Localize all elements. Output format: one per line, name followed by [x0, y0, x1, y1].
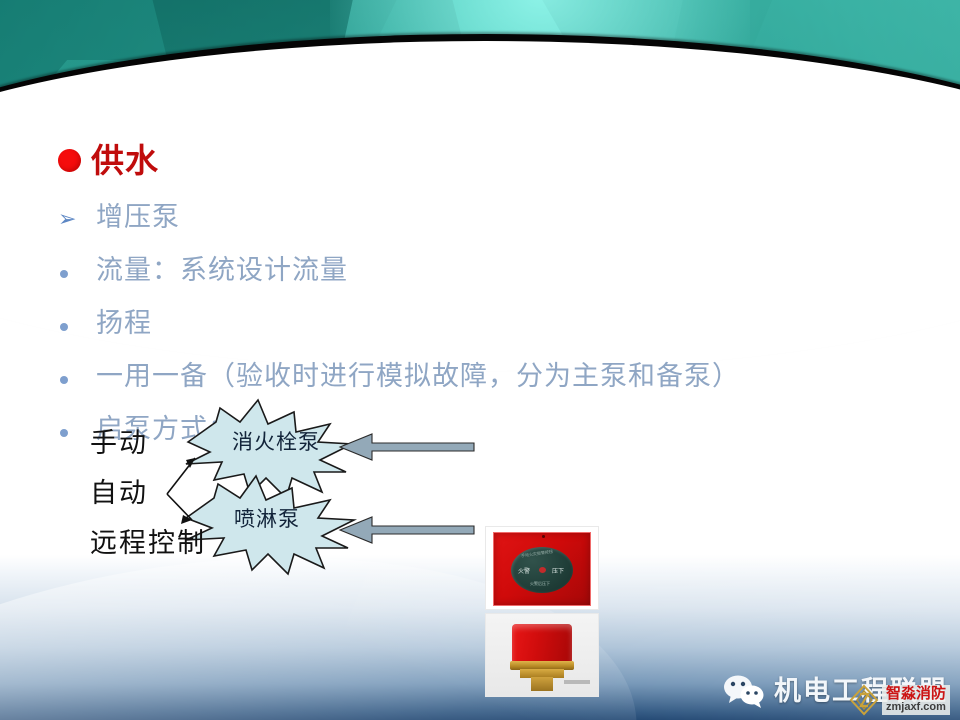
dot-bullet-icon: [58, 304, 96, 348]
connector-line-down: [167, 494, 192, 520]
start-method-remote: 远程控制: [90, 521, 206, 560]
star-label-sprinkler-pump: 喷淋泵: [234, 503, 300, 533]
slide-canvas: 供水 ➢ 增压泵 流量：系统设计流量 扬程 一用一备（验收时进行模拟故障，分为主…: [0, 0, 960, 720]
list-item: 一用一备（验收时进行模拟故障，分为主泵和备泵）: [58, 355, 928, 399]
call-point-face: 手动火灾报警按钮 火警 压下 火警后压下: [511, 547, 573, 593]
call-point-bottom-text: 火警后压下: [530, 581, 550, 587]
wechat-icon: [723, 674, 765, 708]
call-point-top-text: 手动火灾报警按钮: [521, 549, 554, 559]
pump-start-diagram: 手动 自动 远程控制 消火栓泵 喷淋泵 手动火灾报警按钮 火警 压下 火警后压下: [0, 398, 960, 598]
watermark-label: 智淼消防: [886, 686, 946, 701]
watermark-box: 智淼消防 zmjaxf.com: [882, 685, 950, 715]
call-point-housing: 手动火灾报警按钮 火警 压下 火警后压下: [493, 532, 591, 606]
list-item: ➢ 增压泵: [58, 196, 928, 240]
page-title-label: 供水: [91, 144, 159, 177]
list-item-label: 扬程: [96, 302, 152, 346]
block-arrow-to-hydrant-pump: [340, 434, 474, 460]
photo-pressure-switch: [485, 613, 599, 697]
pressure-switch-cap: [512, 624, 572, 662]
watermark-diamond-icon: [849, 684, 879, 716]
dot-bullet-icon: [58, 357, 96, 401]
call-point-screw: [542, 535, 545, 538]
list-item-label: 增压泵: [96, 196, 180, 240]
page-title: 供水: [58, 144, 159, 177]
list-item: 流量：系统设计流量: [58, 249, 928, 293]
dot-bullet-icon: [58, 251, 96, 295]
block-arrow-to-sprinkler-pump: [340, 517, 474, 543]
call-point-left-text: 火警: [518, 566, 530, 575]
list-item: 扬程: [58, 302, 928, 346]
pressure-switch-stem: [531, 677, 553, 691]
watermark: 智淼消防 zmjaxf.com: [849, 684, 950, 716]
list-item-label: 流量：系统设计流量: [96, 249, 348, 293]
photo-manual-call-point: 手动火灾报警按钮 火警 压下 火警后压下: [485, 526, 599, 610]
slide-content: 供水 ➢ 增压泵 流量：系统设计流量 扬程 一用一备（验收时进行模拟故障，分为主…: [0, 128, 960, 598]
start-method-automatic: 自动: [90, 471, 148, 510]
start-method-manual: 手动: [90, 421, 148, 460]
list-item-label: 一用一备（验收时进行模拟故障，分为主泵和备泵）: [96, 355, 740, 399]
star-label-hydrant-pump: 消火栓泵: [232, 426, 320, 456]
call-point-right-text: 压下: [552, 566, 564, 575]
watermark-url: zmjaxf.com: [886, 702, 946, 713]
red-circle-bullet-icon: [58, 149, 81, 172]
arrow-bullet-icon: ➢: [58, 197, 96, 241]
pressure-switch-pipe: [564, 680, 590, 684]
call-point-button: [539, 567, 546, 573]
